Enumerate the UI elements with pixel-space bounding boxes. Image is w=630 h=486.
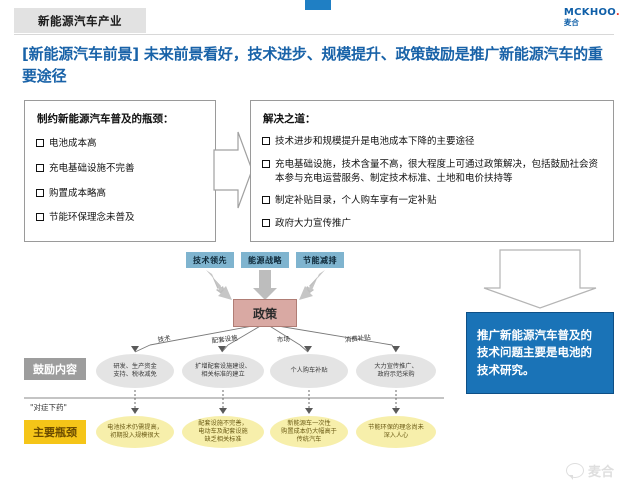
watermark-text: 麦合 (588, 461, 614, 480)
branch-label-1: 技术 (157, 333, 172, 344)
branch-line-2 (228, 325, 262, 345)
list-item: 制定补贴目录，个人购车享有一定补贴 (251, 194, 613, 208)
row-label-encourage: 鼓励内容 (24, 358, 86, 380)
bottleneck-list: 电池成本高 充电基础设施不完善 购置成本略高 节能环保理念未普及 (25, 137, 215, 225)
brand-logo-sub: 麦合 (564, 19, 620, 27)
branch-drop-4 (392, 345, 396, 352)
list-item: 充电基础设施不完善 (25, 162, 215, 176)
list-item: 充电基础设施，技术含量不高，很大程度上可通过政策解决，包括鼓励社会资本参与充电运… (251, 158, 613, 186)
encourage-ellipse: 个人购车补贴 (270, 354, 348, 388)
arrow-driver-1-icon (208, 272, 227, 298)
solution-panel: 解决之道： 技术进步和规模提升是电池成本下降的主要途径 充电基础设施，技术含量不… (250, 100, 614, 242)
dotted-arrowhead-3 (305, 408, 313, 414)
encourage-ellipse: 扩增配套设施建设、相关标准的建立 (182, 354, 264, 388)
driver-chip-tech: 技术领先 (186, 252, 234, 268)
bottleneck-ellipse: 新能源车一次性购置成本仍大幅高于传统汽车 (270, 416, 348, 448)
header-category-tab: 新能源汽车产业 (14, 8, 146, 33)
wechat-watermark: 麦合 (566, 461, 614, 480)
arrow-driver-2-icon (253, 270, 277, 300)
header-category-label: 新能源汽车产业 (38, 13, 122, 29)
arrow-driver-1-body (206, 270, 232, 300)
dotted-arrowhead-1 (131, 408, 139, 414)
arrow-driver-3-body (299, 270, 325, 300)
list-item: 政府大力宣传推广 (251, 217, 613, 231)
driver-chip-saving: 节能减排 (296, 252, 344, 268)
branch-drop-2 (222, 345, 228, 352)
branch-label-4: 消费补贴 (344, 332, 371, 344)
bottleneck-ellipse: 节能环保的理念尚未深入人心 (356, 416, 436, 448)
branch-drop-3 (300, 345, 308, 352)
branch-arrowhead-2 (218, 346, 226, 352)
solution-panel-heading: 解决之道： (251, 101, 613, 126)
branch-line-1 (150, 325, 258, 345)
encourage-ellipse: 大力宣传推广、政府示范采购 (356, 354, 436, 388)
branch-line-4 (272, 325, 392, 345)
branch-arrowhead-1 (131, 346, 139, 352)
list-item: 购置成本略高 (25, 187, 215, 201)
arrow-driver-3-icon (303, 272, 322, 298)
branch-line-3 (268, 325, 300, 345)
slide-canvas: 新能源汽车产业 MCKHOO. 麦合 [新能源汽车前景] 未来前景看好，技术进步… (0, 0, 630, 486)
chat-bubble-icon (566, 463, 584, 478)
dotted-arrowhead-2 (219, 408, 227, 414)
big-right-arrow-icon (214, 132, 252, 208)
bottleneck-panel: 制约新能源汽车普及的瓶颈： 电池成本高 充电基础设施不完善 购置成本略高 节能环… (24, 100, 216, 242)
bottleneck-ellipse: 电池技术仍需提高，初期投入规模很大 (96, 416, 174, 448)
list-item: 电池成本高 (25, 137, 215, 151)
branch-arrowhead-3 (304, 346, 312, 352)
brand-logo-dot: . (616, 7, 620, 18)
driver-chip-energy: 能源战略 (241, 252, 289, 268)
branch-label-3: 市场 (277, 334, 291, 344)
list-item: 技术进步和规模提升是电池成本下降的主要途径 (251, 135, 613, 149)
solution-list: 技术进步和规模提升是电池成本下降的主要途径 充电基础设施，技术含量不高，很大程度… (251, 135, 613, 231)
branch-drop-1 (135, 345, 150, 352)
policy-node: 政策 (233, 299, 297, 327)
bottleneck-ellipse: 配套设施不完善，电动车及配套设施缺乏相关标准 (182, 416, 264, 448)
branch-label-2: 配套设施 (211, 333, 238, 345)
bottleneck-panel-heading: 制约新能源汽车普及的瓶颈： (25, 101, 215, 126)
brand-logo-main: MCKHOO. (564, 8, 620, 19)
conclusion-callout: 推广新能源汽车普及的技术问题主要是电池的技术研究。 (466, 312, 614, 394)
brand-logo: MCKHOO. 麦合 (564, 8, 620, 26)
conclusion-text: 推广新能源汽车普及的技术问题主要是电池的技术研究。 (477, 327, 603, 379)
branch-arrowhead-4 (392, 346, 400, 352)
page-title: [新能源汽车前景] 未来前景看好，技术进步、规模提升、政策鼓励是推广新能源汽车的… (22, 44, 612, 88)
middle-note-label: "对症下药" (30, 402, 67, 413)
row-label-bottleneck: 主要瓶颈 (24, 420, 86, 444)
encourage-ellipse: 研发、生产资金支持、税收减免 (96, 354, 174, 388)
list-item: 节能环保理念未普及 (25, 211, 215, 225)
down-arrow-to-conclusion-icon (484, 250, 596, 308)
dotted-arrowhead-4 (392, 408, 400, 414)
